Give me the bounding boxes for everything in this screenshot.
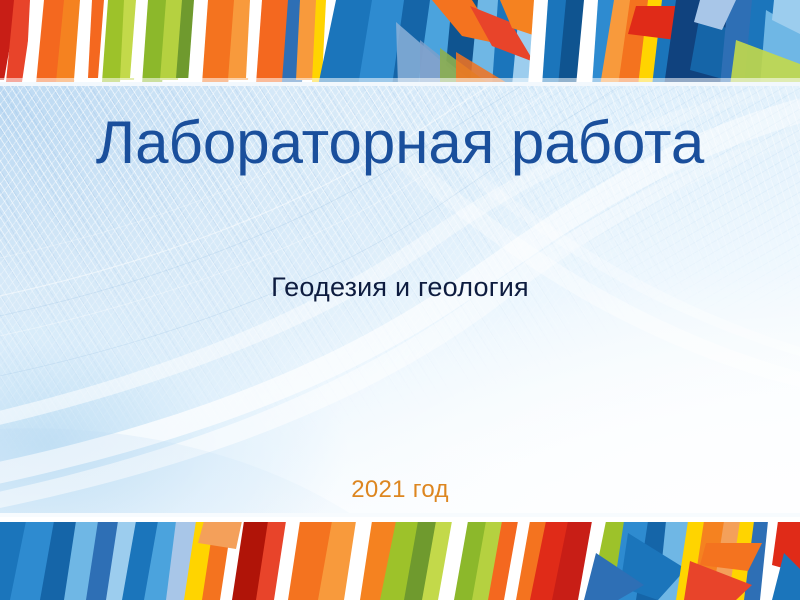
slide-year: 2021 год (0, 476, 800, 504)
slide-subtitle: Геодезия и геология (0, 272, 800, 303)
abstract-shards-top (0, 0, 800, 86)
slide-title: Лабораторная работа (0, 112, 800, 173)
abstract-shards-bottom (0, 513, 800, 600)
presentation-slide: Лабораторная работа Геодезия и геология … (0, 0, 800, 600)
